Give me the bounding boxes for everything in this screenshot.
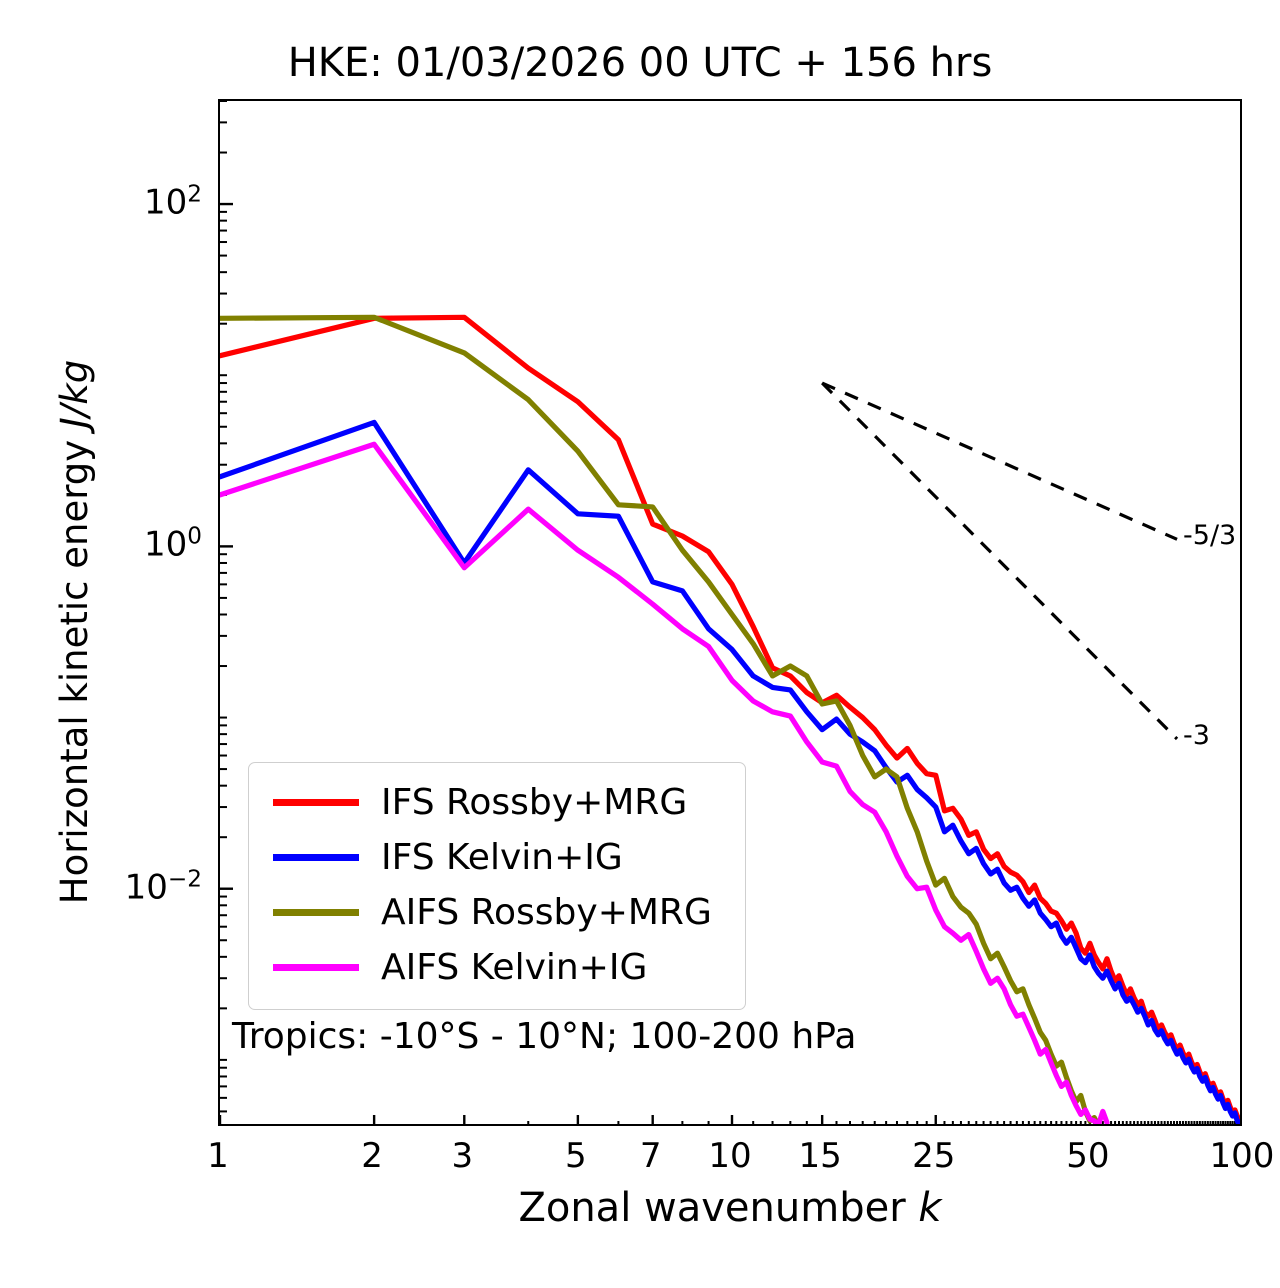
reference-slope-label--3: -3 bbox=[1183, 720, 1210, 751]
x-tick-label: 3 bbox=[451, 1136, 473, 1176]
y-tick-mantissa: 10 bbox=[144, 183, 187, 223]
y-tick-label: 102 bbox=[60, 181, 202, 222]
legend-item[interactable]: IFS Rossby+MRG bbox=[265, 775, 729, 830]
chart-legend: IFS Rossby+MRGIFS Kelvin+IGAIFS Rossby+M… bbox=[248, 762, 746, 1010]
legend-color-swatch bbox=[273, 854, 359, 861]
legend-label: IFS Kelvin+IG bbox=[381, 837, 623, 878]
legend-label: AIFS Kelvin+IG bbox=[381, 947, 647, 988]
x-tick-label: 50 bbox=[1066, 1136, 1109, 1176]
legend-label: IFS Rossby+MRG bbox=[381, 782, 687, 823]
legend-item[interactable]: IFS Kelvin+IG bbox=[265, 830, 729, 885]
page-title: HKE: 01/03/2026 00 UTC + 156 hrs bbox=[0, 40, 1280, 86]
x-axis-label: Zonal wavenumber k bbox=[218, 1185, 1242, 1231]
legend-color-swatch bbox=[273, 909, 359, 916]
x-tick-label: 15 bbox=[799, 1136, 842, 1176]
legend-color-swatch bbox=[273, 799, 359, 806]
y-axis-label-text: Horizontal kinetic energy bbox=[53, 428, 96, 904]
y-tick-mantissa: 10 bbox=[125, 867, 168, 907]
y-tick-exponent: −2 bbox=[168, 866, 202, 892]
legend-label: AIFS Rossby+MRG bbox=[381, 892, 712, 933]
x-tick-label: 5 bbox=[565, 1136, 587, 1176]
y-axis-label-units: J/kg bbox=[53, 360, 96, 428]
chart-figure: HKE: 01/03/2026 00 UTC + 156 hrs Horizon… bbox=[0, 0, 1280, 1288]
x-tick-label: 1 bbox=[207, 1136, 229, 1176]
y-tick-mantissa: 10 bbox=[144, 525, 187, 565]
x-tick-label: 2 bbox=[361, 1136, 383, 1176]
y-tick-label: 10−2 bbox=[60, 866, 202, 907]
reference-slope-line--5-3 bbox=[822, 383, 1177, 539]
x-tick-label: 7 bbox=[640, 1136, 662, 1176]
x-tick-label: 100 bbox=[1210, 1136, 1275, 1176]
legend-item[interactable]: AIFS Rossby+MRG bbox=[265, 885, 729, 940]
x-axis-label-text: Zonal wavenumber bbox=[518, 1185, 918, 1231]
x-axis-label-symbol: k bbox=[918, 1185, 941, 1231]
reference-slope-label--5-3: -5/3 bbox=[1183, 520, 1236, 551]
legend-color-swatch bbox=[273, 964, 359, 971]
x-tick-label: 25 bbox=[912, 1136, 955, 1176]
y-tick-exponent: 2 bbox=[187, 181, 202, 207]
region-annotation: Tropics: -10°S - 10°N; 100-200 hPa bbox=[232, 1016, 856, 1057]
y-tick-label: 100 bbox=[60, 524, 202, 565]
reference-slope-line--3 bbox=[822, 383, 1177, 739]
legend-item[interactable]: AIFS Kelvin+IG bbox=[265, 940, 729, 995]
y-tick-exponent: 0 bbox=[187, 524, 202, 550]
x-tick-label: 10 bbox=[708, 1136, 751, 1176]
